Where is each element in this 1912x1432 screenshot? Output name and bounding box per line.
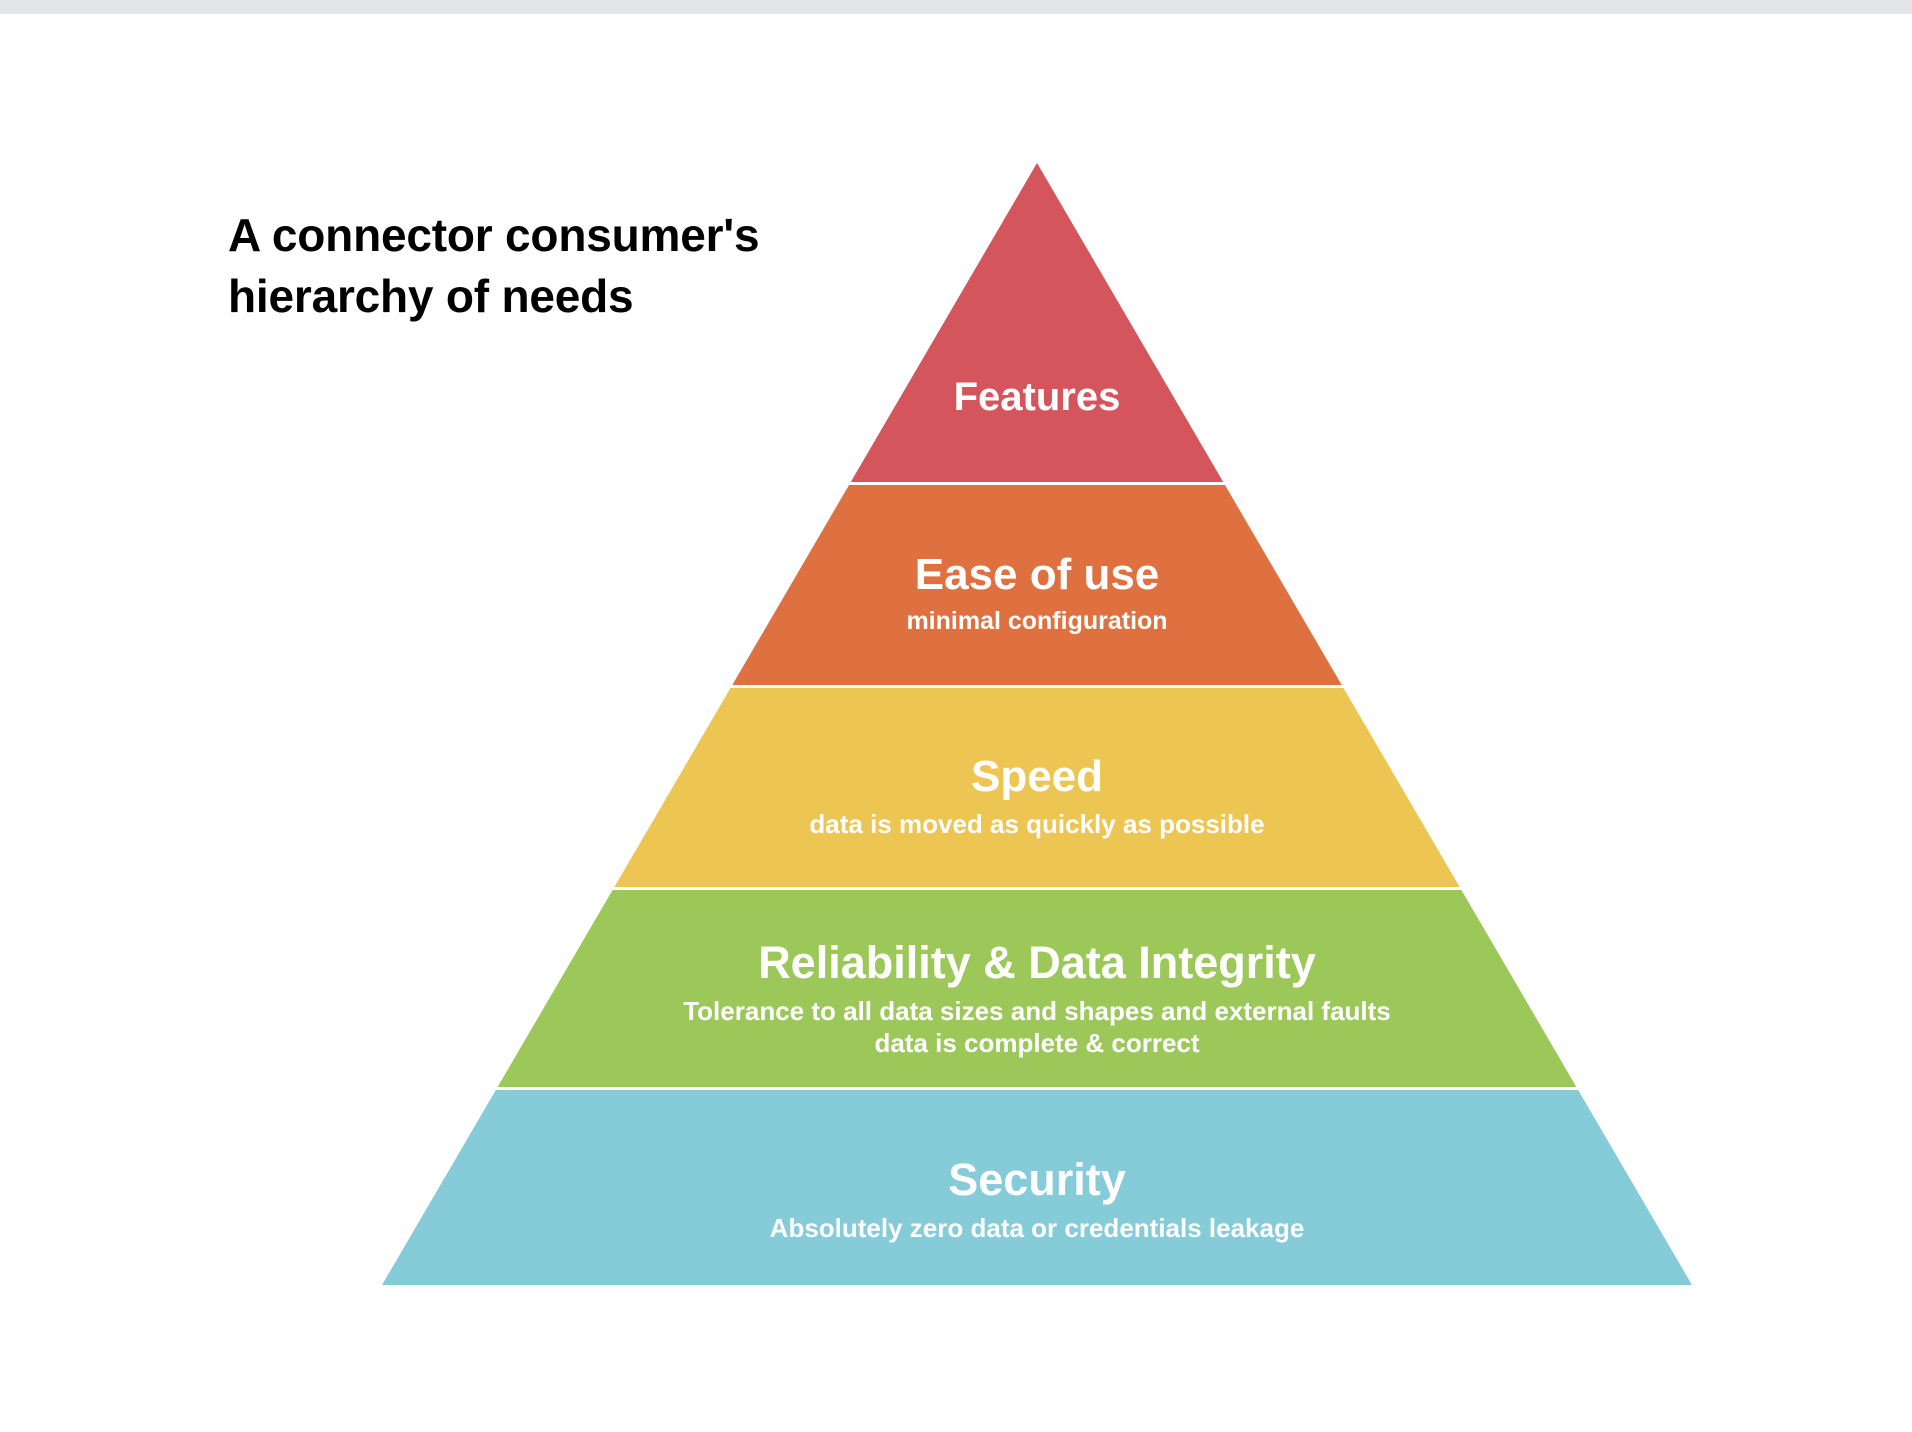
tier-subtitle-ease-of-use: minimal configuration <box>737 606 1337 637</box>
tier-label-ease-of-use: Ease of use minimal configuration <box>737 550 1337 637</box>
tier-title-reliability-data-integrity: Reliability & Data Integrity <box>537 938 1537 988</box>
tier-title-features: Features <box>737 375 1337 420</box>
tier-label-speed: Speed data is moved as quickly as possib… <box>687 752 1387 841</box>
tier-title-ease-of-use: Ease of use <box>737 550 1337 599</box>
diagram-canvas: A connector consumer's hierarchy of need… <box>0 0 1912 1432</box>
tier-subtitle-security: Absolutely zero data or credentials leak… <box>637 1213 1437 1245</box>
tier-subtitle-speed: data is moved as quickly as possible <box>687 809 1387 841</box>
page-title: A connector consumer's hierarchy of need… <box>228 205 928 326</box>
tier-title-speed: Speed <box>687 752 1387 801</box>
tier-label-features: Features <box>737 375 1337 420</box>
tier-subtitle-reliability-data-integrity: Tolerance to all data sizes and shapes a… <box>537 996 1537 1059</box>
tier-label-reliability-data-integrity: Reliability & Data Integrity Tolerance t… <box>537 938 1537 1060</box>
tier-title-security: Security <box>637 1155 1437 1205</box>
tier-label-security: Security Absolutely zero data or credent… <box>637 1155 1437 1245</box>
